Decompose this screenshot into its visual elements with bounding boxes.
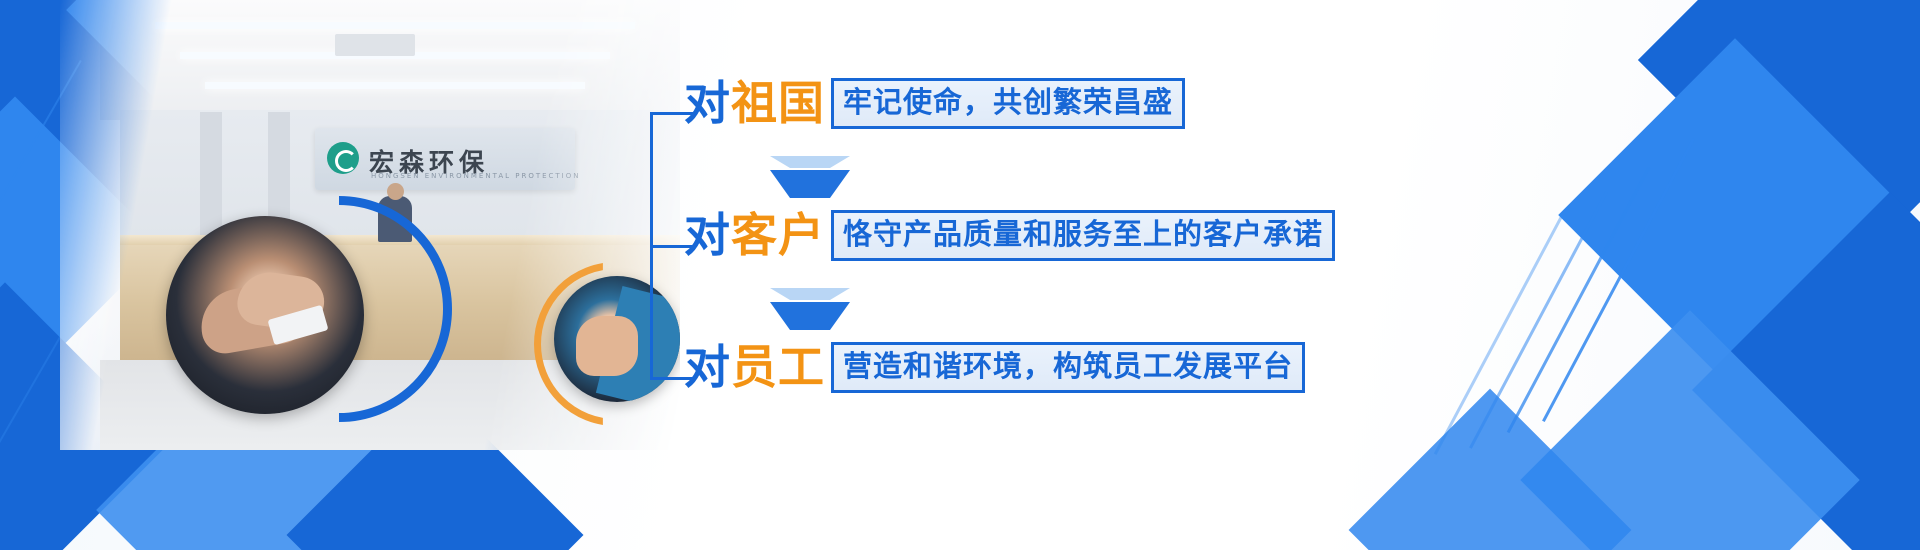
slogan-prefix-1: 对 — [684, 76, 731, 130]
slogan-keyword-1: 祖国 — [731, 76, 825, 130]
company-logo-icon — [327, 142, 359, 174]
decorative-diamond-right-3 — [1692, 192, 1920, 550]
promotional-banner: 宏森环保 HONGSEN ENVIRONMENTAL PROTECTION — [0, 0, 1920, 550]
decorative-line-right-2 — [1469, 191, 1608, 448]
ceiling-vent — [335, 34, 415, 56]
ceiling-light-strip-1 — [155, 22, 635, 29]
slogan-prefix-3: 对 — [684, 340, 731, 394]
handshake-photo-large — [166, 216, 364, 414]
ceiling — [100, 0, 680, 120]
down-arrow-icon-1 — [770, 156, 816, 198]
slogan-tagline-3: 营造和谐环境，构筑员工发展平台 — [831, 342, 1305, 393]
ceiling-light-strip-3 — [205, 82, 585, 89]
slogan-keyword-3: 员工 — [731, 340, 825, 394]
decorative-diamond-right-1 — [1638, 0, 1920, 272]
company-name-subtext: HONGSEN ENVIRONMENTAL PROTECTION — [371, 172, 581, 180]
slogan-heading-2: 对客户 — [684, 212, 825, 258]
slogan-prefix-2: 对 — [684, 208, 731, 262]
slogan-tagline-2: 恪守产品质量和服务至上的客户承诺 — [831, 210, 1335, 261]
decorative-line-right-4 — [1542, 138, 1695, 422]
slogan-row-1: 对祖国 牢记使命，共创繁荣昌盛 — [684, 78, 1185, 129]
slogan-keyword-2: 客户 — [731, 208, 825, 262]
decorative-diamond-right-4 — [1520, 310, 1859, 550]
slogan-heading-1: 对祖国 — [684, 80, 825, 126]
decorative-line-right-1 — [1507, 167, 1650, 433]
slogan-row-2: 对客户 恪守产品质量和服务至上的客户承诺 — [684, 210, 1335, 261]
company-sign: 宏森环保 HONGSEN ENVIRONMENTAL PROTECTION — [315, 128, 575, 190]
slogan-heading-3: 对员工 — [684, 344, 825, 390]
down-arrow-icon-2 — [770, 288, 816, 330]
decorative-diamond-right-2 — [1558, 38, 1912, 392]
office-photo-block: 宏森环保 HONGSEN ENVIRONMENTAL PROTECTION — [60, 0, 680, 450]
slogan-group: 对祖国 牢记使命，共创繁荣昌盛 对客户 恪守产品质量和服务至上的客户承诺 对员工… — [650, 78, 1350, 418]
slogan-row-3: 对员工 营造和谐环境，构筑员工发展平台 — [684, 342, 1305, 393]
slogan-tagline-1: 牢记使命，共创繁荣昌盛 — [831, 78, 1185, 129]
